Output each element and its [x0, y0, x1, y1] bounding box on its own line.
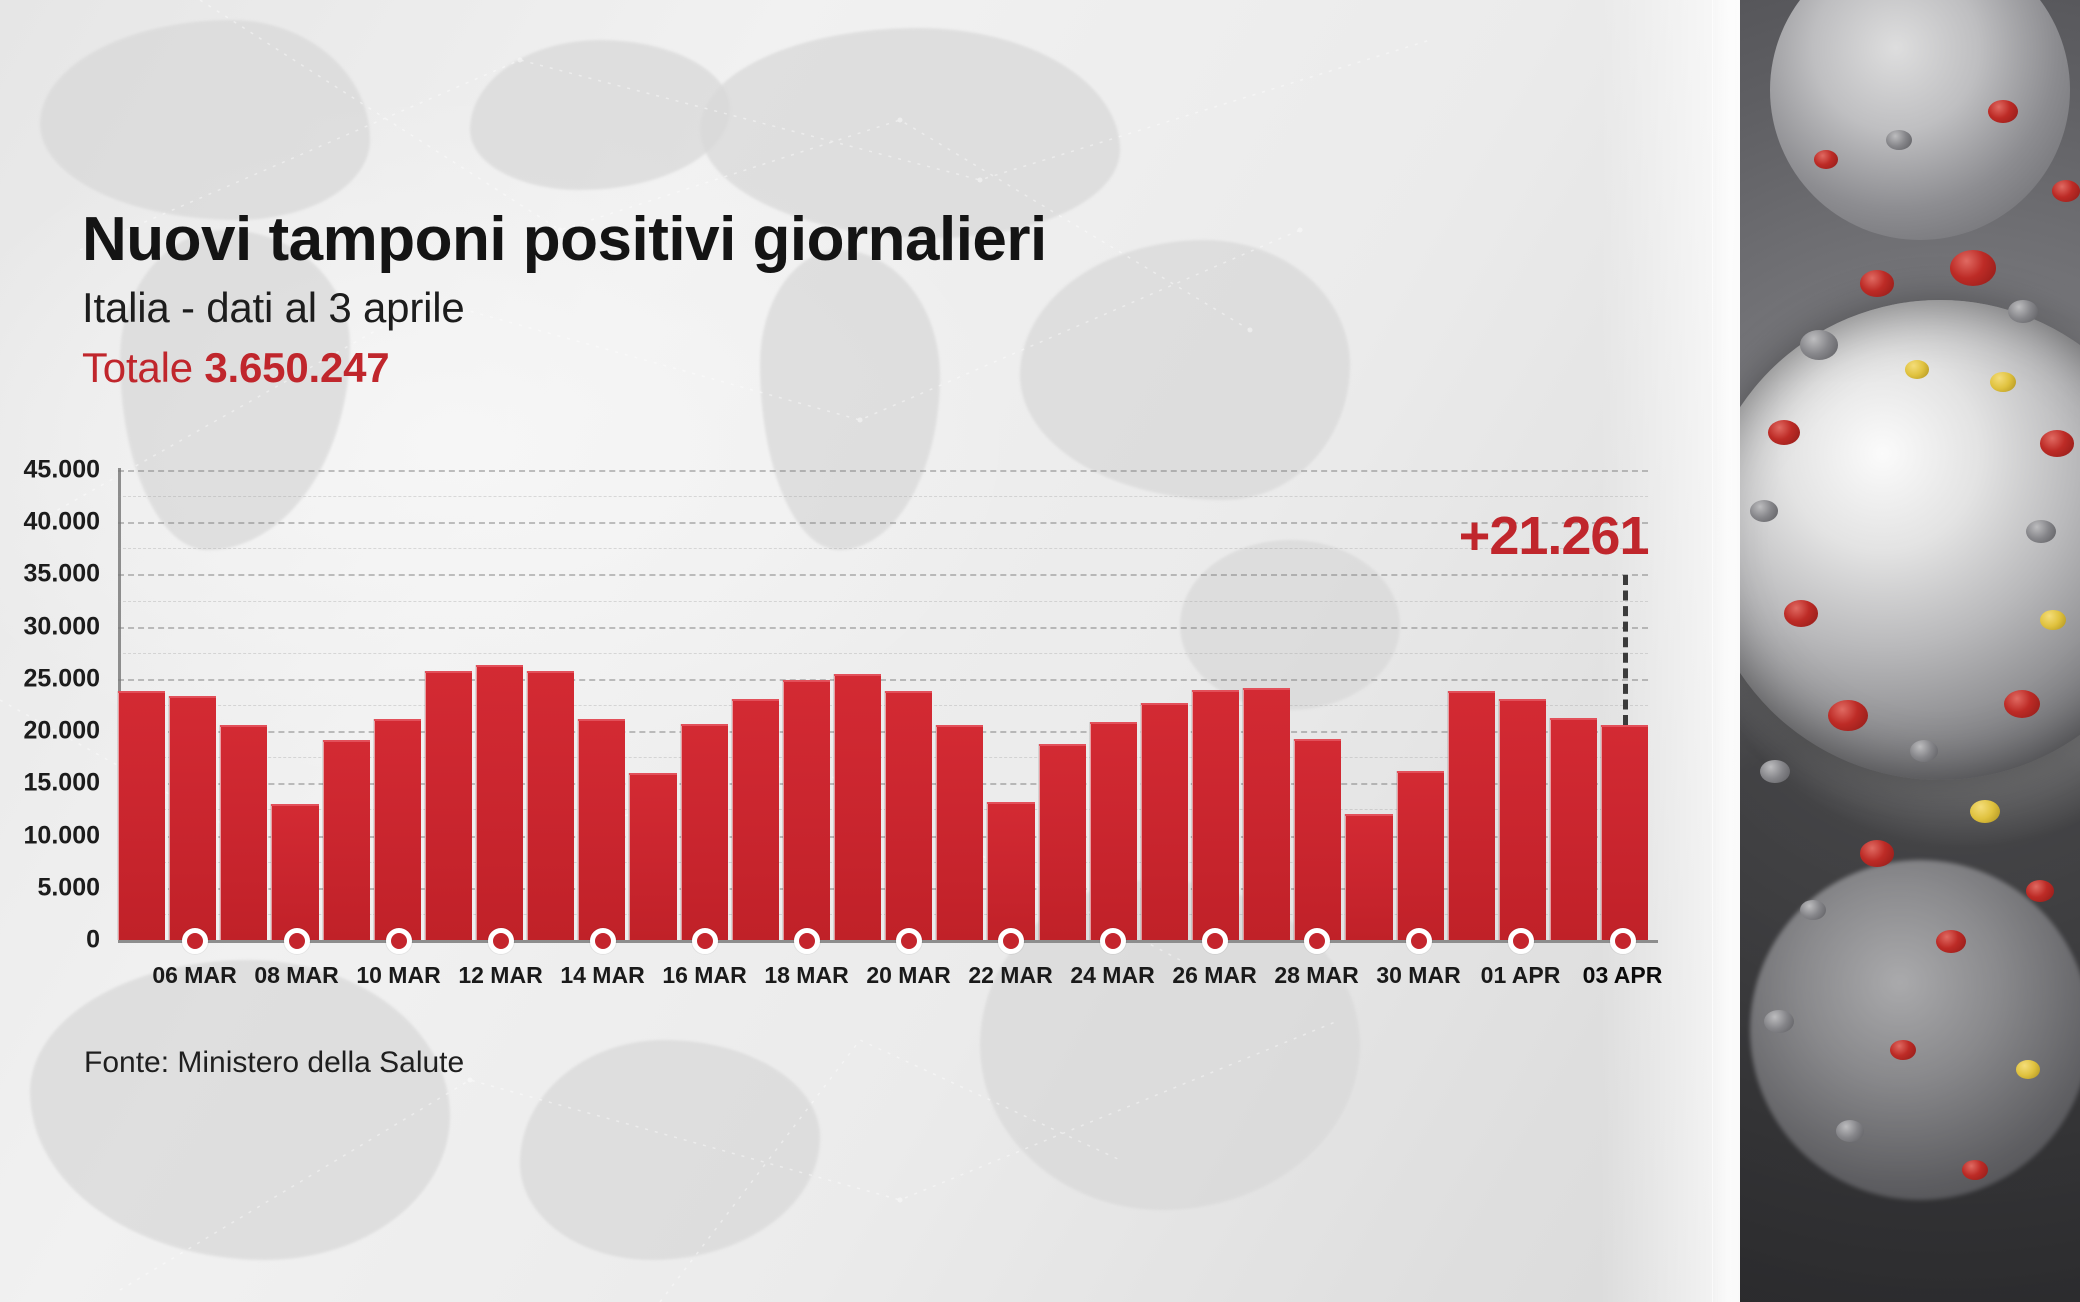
x-axis-tick-dot — [998, 928, 1024, 954]
x-axis-tick-label: 01 APR — [1481, 962, 1561, 989]
virus-spike — [1784, 600, 1818, 627]
virus-spike — [1860, 840, 1894, 867]
x-axis-tick-dot — [488, 928, 514, 954]
x-axis-tick-label: 22 MAR — [968, 962, 1052, 989]
x-axis-tick-label: 16 MAR — [662, 962, 746, 989]
virus-spike — [1800, 330, 1838, 360]
y-axis-tick-label: 15.000 — [24, 769, 100, 798]
bar — [629, 773, 676, 940]
virus-spike — [1910, 740, 1938, 762]
x-axis-tick-dot — [692, 928, 718, 954]
bar — [681, 724, 728, 940]
x-axis-tick-dot — [896, 928, 922, 954]
bar — [374, 719, 421, 940]
x-axis-tick-label: 12 MAR — [458, 962, 542, 989]
bar — [1141, 703, 1188, 940]
virus-spike — [2026, 880, 2054, 902]
total-value: 3.650.247 — [204, 344, 389, 391]
x-axis-tick-label: 10 MAR — [356, 962, 440, 989]
x-axis-tick-dot — [1304, 928, 1330, 954]
x-axis-tick-dot — [1610, 928, 1636, 954]
virus-spike — [2040, 430, 2074, 457]
virus-spike — [1950, 250, 1996, 286]
callout-value-label: +21.261 — [1459, 505, 1649, 567]
y-axis-labels: 45.00040.00035.00030.00025.00020.00015.0… — [0, 470, 108, 940]
callout-leader-line — [1623, 575, 1628, 725]
y-axis-tick-label: 45.000 — [24, 456, 100, 485]
page-title: Nuovi tamponi positivi giornalieri — [82, 208, 1047, 272]
virus-spike — [1814, 150, 1838, 169]
x-axis-tick-dot — [1202, 928, 1228, 954]
virus-spike — [1760, 760, 1790, 783]
virus-spike — [2016, 1060, 2040, 1079]
x-axis-tick-dot — [590, 928, 616, 954]
bar — [1294, 739, 1341, 940]
bar — [885, 691, 932, 940]
bar — [118, 691, 165, 940]
bar-series — [118, 470, 1648, 940]
x-axis-tick-label: 24 MAR — [1070, 962, 1154, 989]
bar — [271, 804, 318, 940]
y-axis-tick-label: 35.000 — [24, 560, 100, 589]
bar — [578, 719, 625, 940]
y-axis-tick-label: 10.000 — [24, 821, 100, 850]
bar — [1397, 771, 1444, 940]
virus-spike — [1860, 270, 1894, 297]
x-axis-tick-label: 08 MAR — [254, 962, 338, 989]
x-axis-tick-label: 28 MAR — [1274, 962, 1358, 989]
virus-photo-panel — [1740, 0, 2080, 1302]
x-axis-tick-dot — [1100, 928, 1126, 954]
bar — [987, 802, 1034, 940]
virus-spike — [1768, 420, 1800, 445]
virus-particle-top — [1770, 0, 2070, 240]
x-axis-tick-dot — [386, 928, 412, 954]
bar — [527, 671, 574, 940]
x-axis-tick-label: 20 MAR — [866, 962, 950, 989]
source-note: Fonte: Ministero della Salute — [84, 1046, 464, 1080]
page-subtitle: Italia - dati al 3 aprile — [82, 284, 1047, 332]
x-axis-tick-label: 03 APR — [1583, 962, 1663, 989]
x-axis-tick-label: 18 MAR — [764, 962, 848, 989]
x-axis-tick-dot — [794, 928, 820, 954]
virus-spike — [2052, 180, 2080, 202]
bar — [732, 699, 779, 940]
x-axis-tick-label: 30 MAR — [1376, 962, 1460, 989]
x-axis-tick-dot — [284, 928, 310, 954]
bar — [476, 665, 523, 940]
x-axis-tick-label: 14 MAR — [560, 962, 644, 989]
virus-spike — [2004, 690, 2040, 718]
x-axis-tick-label: 26 MAR — [1172, 962, 1256, 989]
y-axis-tick-label: 0 — [86, 926, 100, 955]
y-axis-tick-label: 25.000 — [24, 664, 100, 693]
bar — [220, 725, 267, 940]
virus-spike — [1970, 800, 2000, 823]
virus-spike — [1750, 500, 1778, 522]
bar — [425, 671, 472, 940]
plot-area: 06 MAR08 MAR10 MAR12 MAR14 MAR16 MAR18 M… — [118, 470, 1648, 940]
virus-spike — [1836, 1120, 1864, 1142]
bar — [1090, 722, 1137, 940]
bar — [1601, 725, 1648, 940]
bar — [1192, 690, 1239, 940]
total-line: Totale 3.650.247 — [82, 344, 1047, 392]
bar — [1448, 691, 1495, 940]
header-block: Nuovi tamponi positivi giornalieri Itali… — [82, 208, 1047, 392]
bar — [169, 696, 216, 940]
y-axis-tick-label: 20.000 — [24, 717, 100, 746]
virus-spike — [1828, 700, 1868, 731]
total-label: Totale — [82, 344, 193, 391]
bar — [1499, 699, 1546, 940]
bar — [323, 740, 370, 940]
bar — [1243, 688, 1290, 940]
bar — [783, 680, 830, 940]
virus-spike — [1905, 360, 1929, 379]
x-axis-tick-dot — [1508, 928, 1534, 954]
y-axis-tick-label: 5.000 — [37, 873, 100, 902]
bar — [1345, 814, 1392, 940]
y-axis-tick-label: 40.000 — [24, 508, 100, 537]
bar — [834, 674, 881, 940]
x-axis-tick-label: 06 MAR — [152, 962, 236, 989]
x-axis-tick-dot — [1406, 928, 1432, 954]
bar — [936, 725, 983, 941]
bar — [1550, 718, 1597, 940]
bar-chart: 45.00040.00035.00030.00025.00020.00015.0… — [0, 470, 1700, 1030]
y-axis-tick-label: 30.000 — [24, 612, 100, 641]
x-axis-tick-dot — [182, 928, 208, 954]
bar — [1039, 744, 1086, 940]
